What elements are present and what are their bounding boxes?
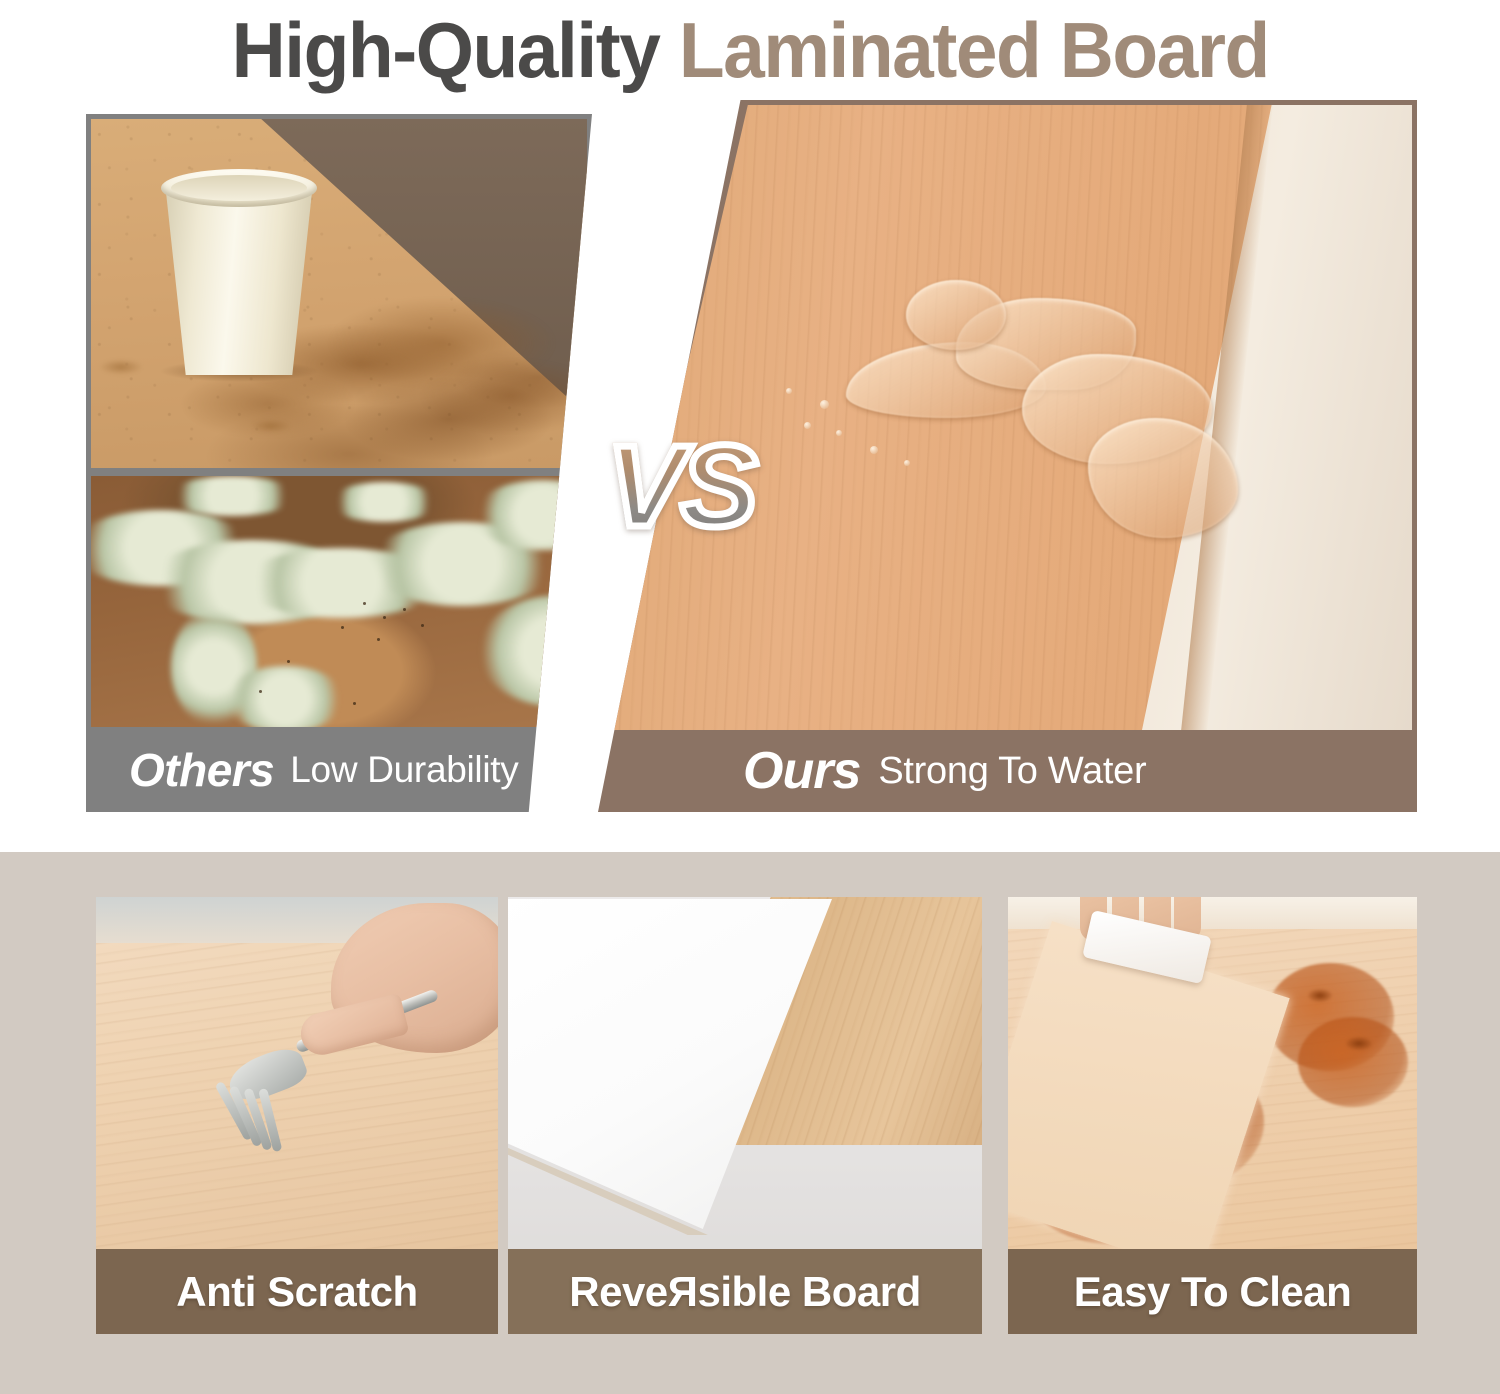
feature-label-part-b: sible Board xyxy=(698,1268,921,1315)
sauce-smear-4 xyxy=(1298,1017,1408,1107)
mold-speck-1 xyxy=(363,602,366,605)
mold-speck-2 xyxy=(383,616,386,619)
page-title-part-one: High-Quality xyxy=(231,6,678,94)
water-droplet-6 xyxy=(786,388,792,394)
page-title: High-Quality Laminated Board xyxy=(231,11,1268,89)
cup-interior xyxy=(171,175,307,201)
feature-label-anti-scratch: Anti Scratch xyxy=(176,1268,417,1316)
ours-caption-bar: Ours Strong To Water xyxy=(603,730,1412,812)
features-section: Anti Scratch ReveRsible Board xyxy=(0,852,1500,1394)
feature-caption-easy-to-clean: Easy To Clean xyxy=(1008,1249,1417,1334)
others-subtitle: Low Durability xyxy=(290,749,518,791)
mold-speck-6 xyxy=(341,626,344,629)
title-bar: High-Quality Laminated Board xyxy=(0,0,1500,100)
mold-speck-3 xyxy=(403,608,406,611)
water-droplet-2 xyxy=(804,422,811,429)
others-panel: Others Low Durability xyxy=(86,114,592,812)
mold-patch-7 xyxy=(167,476,297,516)
feature-label-reversible-board: ReveRsible Board xyxy=(569,1268,920,1316)
feature-card-reversible-board: ReveRsible Board xyxy=(508,897,982,1334)
water-droplet-4 xyxy=(870,446,878,454)
mold-speck-4 xyxy=(421,624,424,627)
water-puddle xyxy=(846,280,1246,570)
mold-speck-7 xyxy=(287,660,290,663)
mold-patch-10 xyxy=(225,666,345,727)
sauce-chunk-3 xyxy=(1346,1037,1372,1050)
feature-label-easy-to-clean: Easy To Clean xyxy=(1074,1268,1352,1316)
cup-body xyxy=(165,183,313,375)
water-droplet-1 xyxy=(820,400,829,409)
feature-label-part-a: Reve xyxy=(569,1268,667,1315)
mold-patch-8 xyxy=(479,596,587,706)
water-droplet-3 xyxy=(836,430,842,436)
mold-speck-8 xyxy=(259,690,262,693)
background-strip xyxy=(1008,897,1417,929)
comparison-section: Others Low Durability xyxy=(0,100,1500,845)
coffee-cup-spill-photo xyxy=(91,119,587,468)
feature-caption-anti-scratch: Anti Scratch xyxy=(96,1249,498,1334)
paper-cup xyxy=(153,165,325,375)
page-title-part-two: Laminated Board xyxy=(679,6,1269,94)
water-bead-5 xyxy=(906,280,1006,350)
feature-card-easy-to-clean: Easy To Clean xyxy=(1008,897,1417,1334)
ours-subtitle: Strong To Water xyxy=(878,750,1146,793)
sauce-chunk-2 xyxy=(1308,989,1332,1002)
mold-patch-6 xyxy=(329,482,439,522)
spill-stain-3 xyxy=(421,359,587,433)
others-photo-stack xyxy=(91,119,587,727)
ours-label: Ours xyxy=(743,741,860,801)
spill-droplet-b xyxy=(251,419,291,433)
water-beading-photo xyxy=(603,105,1412,730)
others-caption-bar: Others Low Durability xyxy=(91,727,592,812)
mold-growth-photo xyxy=(91,476,587,727)
others-label: Others xyxy=(129,743,274,797)
vs-badge: VS xyxy=(607,428,754,544)
water-droplet-5 xyxy=(904,460,910,466)
feature-card-anti-scratch: Anti Scratch xyxy=(96,897,498,1334)
water-bead-4 xyxy=(1088,418,1238,538)
feature-caption-reversible-board: ReveRsible Board xyxy=(508,1249,982,1334)
reversed-r-glyph: R xyxy=(668,1268,698,1316)
mold-speck-5 xyxy=(377,638,380,641)
mold-speck-9 xyxy=(353,702,356,705)
spill-droplet-a xyxy=(99,359,143,375)
